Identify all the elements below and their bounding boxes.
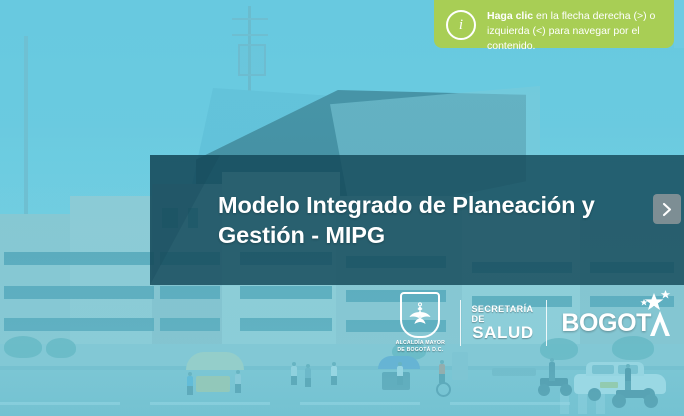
next-slide-button[interactable] (653, 194, 681, 224)
alcaldia-logo: ALCALDÍA MAYOR DE BOGOTÁ D.C. (392, 292, 449, 354)
logo-divider (546, 300, 547, 346)
secretaria-label: SECRETARÍA DE (472, 304, 535, 324)
slide-title: Modelo Integrado de Planeación y Gestión… (218, 190, 638, 250)
chevron-right-icon (662, 202, 673, 217)
info-icon: i (446, 10, 476, 40)
info-banner: i Haga clic en la flecha derecha (>) o i… (434, 0, 674, 48)
right-edge-strip (674, 0, 684, 48)
alcaldia-caption-line1: ALCALDÍA MAYOR (396, 340, 445, 346)
bogota-stars-icon (628, 289, 672, 315)
eagle-emblem-icon (408, 301, 432, 329)
logo-divider (460, 300, 461, 346)
alcaldia-caption: ALCALDÍA MAYOR DE BOGOTÁ D.C. (396, 340, 445, 354)
presentation-slide: Modelo Integrado de Planeación y Gestión… (0, 0, 684, 416)
bogota-coat-of-arms-icon (400, 292, 440, 338)
bogota-wordmark-logo: BOGOT (561, 311, 670, 336)
alcaldia-caption-line2: DE BOGOTÁ D.C. (397, 347, 443, 353)
salud-label: SALUD (472, 324, 534, 342)
info-banner-text-bold: Haga clic (487, 10, 533, 22)
secretaria-salud-logo: SECRETARÍA DE SALUD (472, 304, 535, 342)
logo-strip: ALCALDÍA MAYOR DE BOGOTÁ D.C. SECRETARÍA… (392, 292, 670, 354)
info-banner-text: Haga clic en la flecha derecha (>) o izq… (487, 8, 664, 54)
stars-graphic-icon (628, 289, 672, 315)
